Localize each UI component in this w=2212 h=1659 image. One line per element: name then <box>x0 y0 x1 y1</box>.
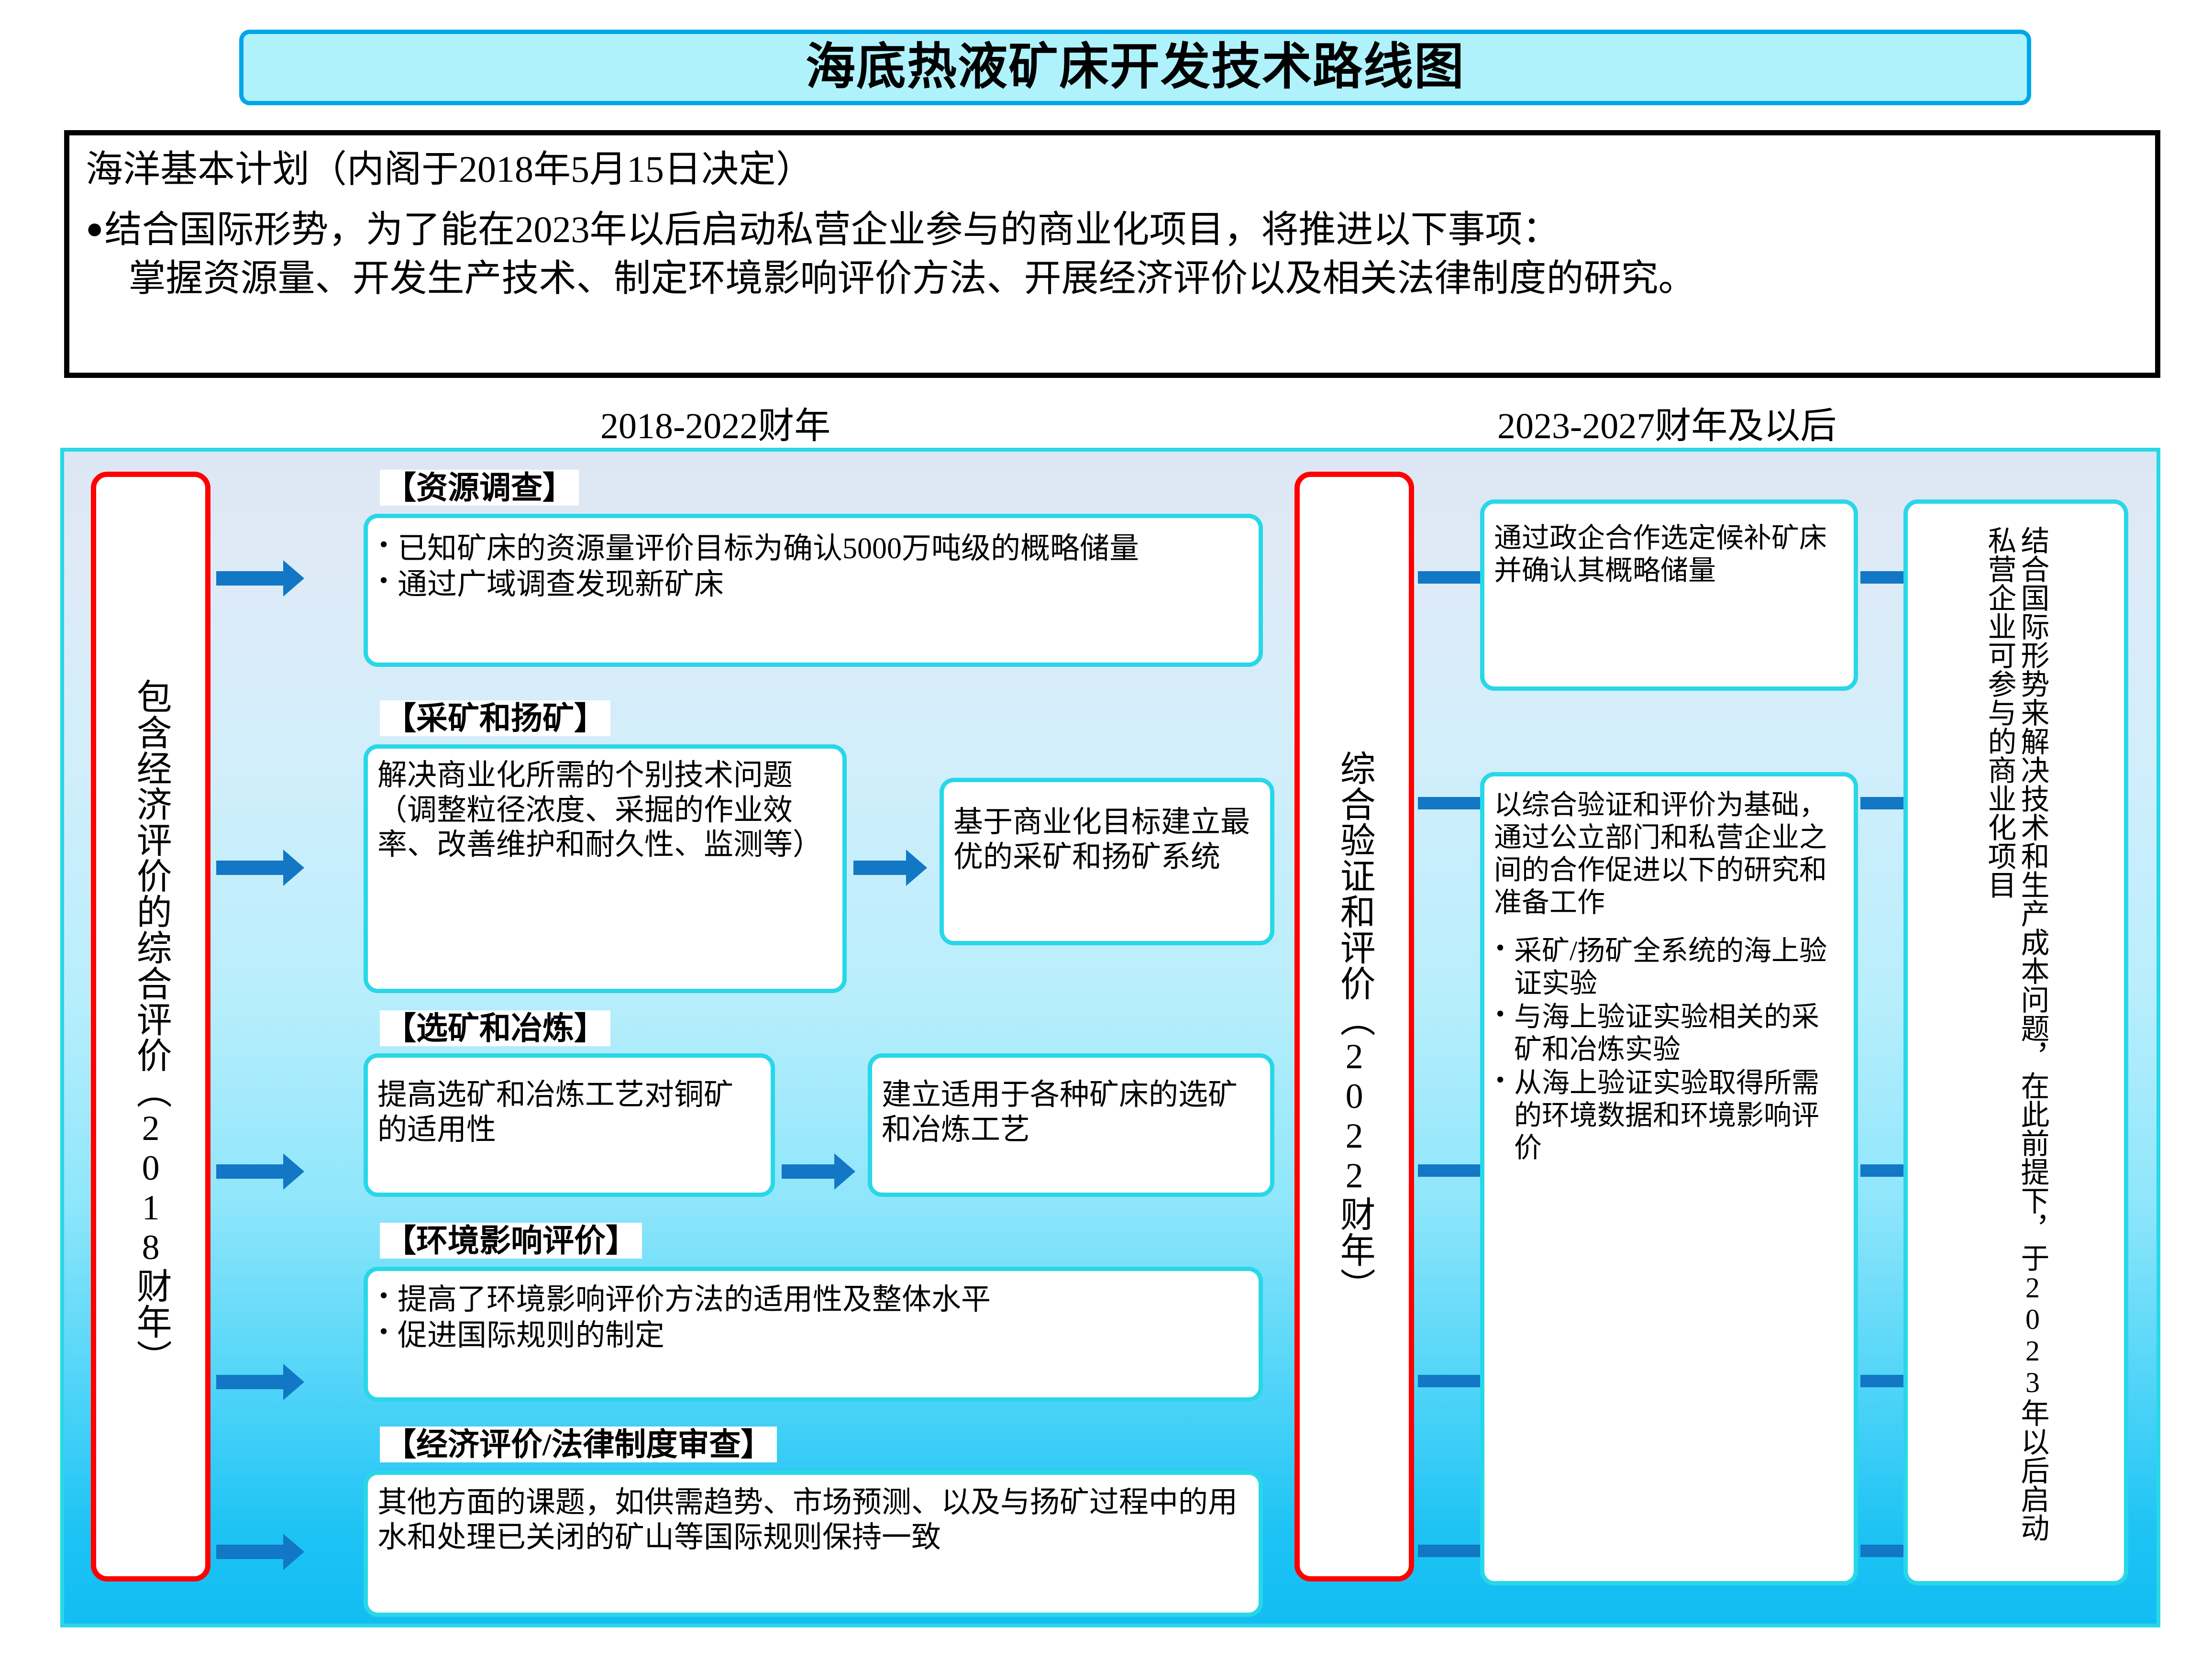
candidate-deposit-text: 通过政企合作选定候补矿床并确认其概略储量 <box>1494 522 1844 587</box>
phase-middle-label: 综合验证和评价（2022财年） <box>1334 750 1374 1304</box>
beneficiation-text: 提高选矿和冶炼工艺对铜矿的适用性 <box>377 1078 761 1147</box>
arrow-mining-to-system <box>853 861 911 875</box>
card-resource-survey: 已知矿床的资源量评价目标为确认5000万吨级的概略储量 通过广域调查发现新矿床 <box>364 514 1263 667</box>
card-beneficiation-system: 建立适用于各种矿床的选矿和冶炼工艺 <box>868 1053 1274 1197</box>
card-environmental: 提高了环境影响评价方法的适用性及整体水平 促进国际规则的制定 <box>364 1267 1263 1402</box>
economic-legal-text: 其他方面的课题，如供需趋势、市场预测、以及与扬矿过程中的用水和处理已关闭的矿山等… <box>377 1485 1249 1555</box>
basic-plan-bullet: ● 结合国际形势，为了能在2023年以后启动私营企业参与的商业化项目，将推进以下… <box>86 205 2139 304</box>
bullet-dot-icon: ● <box>86 205 103 304</box>
card-economic-legal: 其他方面的课题，如供需趋势、市场预测、以及与扬矿过程中的用水和处理已关闭的矿山等… <box>364 1471 1263 1617</box>
roadmap-panel: 包含经济评价的综合评价（2018财年） 【资源调查】 已知矿床的资源量评价目标为… <box>60 448 2160 1627</box>
arrow-to-beneficiation <box>216 1164 288 1179</box>
card-commercialization: 结合国际形势来解决技术和生产成本问题，在此前提下，于2023年以后启动私营企业可… <box>1903 499 2128 1585</box>
connector-to-commercialization-2 <box>1860 797 1903 809</box>
connector-to-candidate-deposit <box>1418 571 1480 584</box>
era-label-2023-2027: 2023-2027财年及以后 <box>1497 396 1836 449</box>
connector-to-verification-2 <box>1418 1164 1480 1177</box>
arrow-to-mining-lifting <box>216 861 288 875</box>
connector-to-commercialization-3 <box>1860 1164 1903 1177</box>
arrow-beneficiation-to-system <box>782 1164 839 1179</box>
category-label-resource-survey: 【资源调查】 <box>380 470 579 506</box>
connector-to-commercialization-5 <box>1860 1545 1903 1557</box>
card-beneficiation: 提高选矿和冶炼工艺对铜矿的适用性 <box>364 1053 775 1197</box>
basic-plan-bullet-line-2: 掌握资源量、开发生产技术、制定环境影响评价方法、开展经济评价以及相关法律制度的研… <box>104 254 1695 303</box>
mining-lifting-text: 解决商业化所需的个别技术问题（调整粒径浓度、采掘的作业效率、改善维护和耐久性、监… <box>377 758 833 863</box>
list-item: 促进国际规则的制定 <box>377 1318 1249 1353</box>
list-item: 采矿/扬矿全系统的海上验证实验 <box>1494 935 1844 1000</box>
arrow-to-environmental <box>216 1375 288 1389</box>
card-mining-lifting: 解决商业化所需的个别技术问题（调整粒径浓度、采掘的作业效率、改善维护和耐久性、监… <box>364 744 847 993</box>
resource-survey-list: 已知矿床的资源量评价目标为确认5000万吨级的概略储量 通过广域调查发现新矿床 <box>377 531 1249 602</box>
category-label-beneficiation: 【选矿和冶炼】 <box>380 1010 610 1046</box>
verification-list: 采矿/扬矿全系统的海上验证实验 与海上验证实验相关的采矿和冶炼实验 从海上验证实… <box>1494 935 1844 1164</box>
list-item: 与海上验证实验相关的采矿和冶炼实验 <box>1494 1001 1844 1066</box>
list-item: 通过广域调查发现新矿床 <box>377 567 1249 602</box>
list-item: 从海上验证实验取得所需的环境数据和环境影响评价 <box>1494 1067 1844 1164</box>
card-mining-system: 基于商业化目标建立最优的采矿和扬矿系统 <box>940 778 1274 945</box>
list-item: 提高了环境影响评价方法的适用性及整体水平 <box>377 1283 1249 1317</box>
connector-to-verification <box>1418 797 1480 809</box>
card-verification-program: 以综合验证和评价为基础，通过公立部门和私营企业之间的合作促进以下的研究和准备工作… <box>1480 772 1858 1585</box>
connector-to-verification-4 <box>1418 1545 1480 1557</box>
beneficiation-system-text: 建立适用于各种矿床的选矿和冶炼工艺 <box>882 1078 1261 1147</box>
connector-to-verification-3 <box>1418 1375 1480 1387</box>
commercialization-text: 结合国际形势来解决技术和生产成本问题，在此前提下，于2023年以后启动私营企业可… <box>1983 526 2049 1559</box>
phase-start-label: 包含经济评价的综合评价（2018财年） <box>131 678 171 1375</box>
environmental-list: 提高了环境影响评价方法的适用性及整体水平 促进国际规则的制定 <box>377 1283 1249 1353</box>
phase-middle-box: 综合验证和评价（2022财年） <box>1294 472 1414 1582</box>
arrow-to-resource-survey <box>216 571 288 586</box>
basic-plan-note-box: 海洋基本计划（内阁于2018年5月15日决定） ● 结合国际形势，为了能在202… <box>64 130 2160 378</box>
basic-plan-bullet-text: 结合国际形势，为了能在2023年以后启动私营企业参与的商业化项目，将推进以下事项… <box>104 205 1695 304</box>
category-label-environmental: 【环境影响评价】 <box>380 1223 642 1259</box>
category-label-economic-legal: 【经济评价/法律制度审查】 <box>380 1427 777 1462</box>
card-candidate-deposit: 通过政企合作选定候补矿床并确认其概略储量 <box>1480 499 1858 691</box>
page-title: 海底热液矿床开发技术路线图 <box>806 43 1465 92</box>
mining-system-text: 基于商业化目标建立最优的采矿和扬矿系统 <box>953 805 1261 874</box>
era-label-2018-2022: 2018-2022财年 <box>600 396 830 449</box>
connector-to-commercialization-1 <box>1860 571 1903 584</box>
page-title-banner: 海底热液矿床开发技术路线图 <box>239 30 2031 105</box>
verification-intro-text: 以综合验证和评价为基础，通过公立部门和私营企业之间的合作促进以下的研究和准备工作 <box>1494 789 1844 918</box>
list-item: 已知矿床的资源量评价目标为确认5000万吨级的概略储量 <box>377 531 1249 566</box>
phase-start-box: 包含经济评价的综合评价（2018财年） <box>91 472 210 1582</box>
connector-to-commercialization-4 <box>1860 1375 1903 1387</box>
category-label-mining-lifting: 【采矿和扬矿】 <box>380 700 610 736</box>
basic-plan-heading: 海洋基本计划（内阁于2018年5月15日决定） <box>86 146 2139 193</box>
arrow-to-economic-legal <box>216 1545 288 1559</box>
basic-plan-bullet-line-1: 结合国际形势，为了能在2023年以后启动私营企业参与的商业化项目，将推进以下事项… <box>104 209 1559 250</box>
